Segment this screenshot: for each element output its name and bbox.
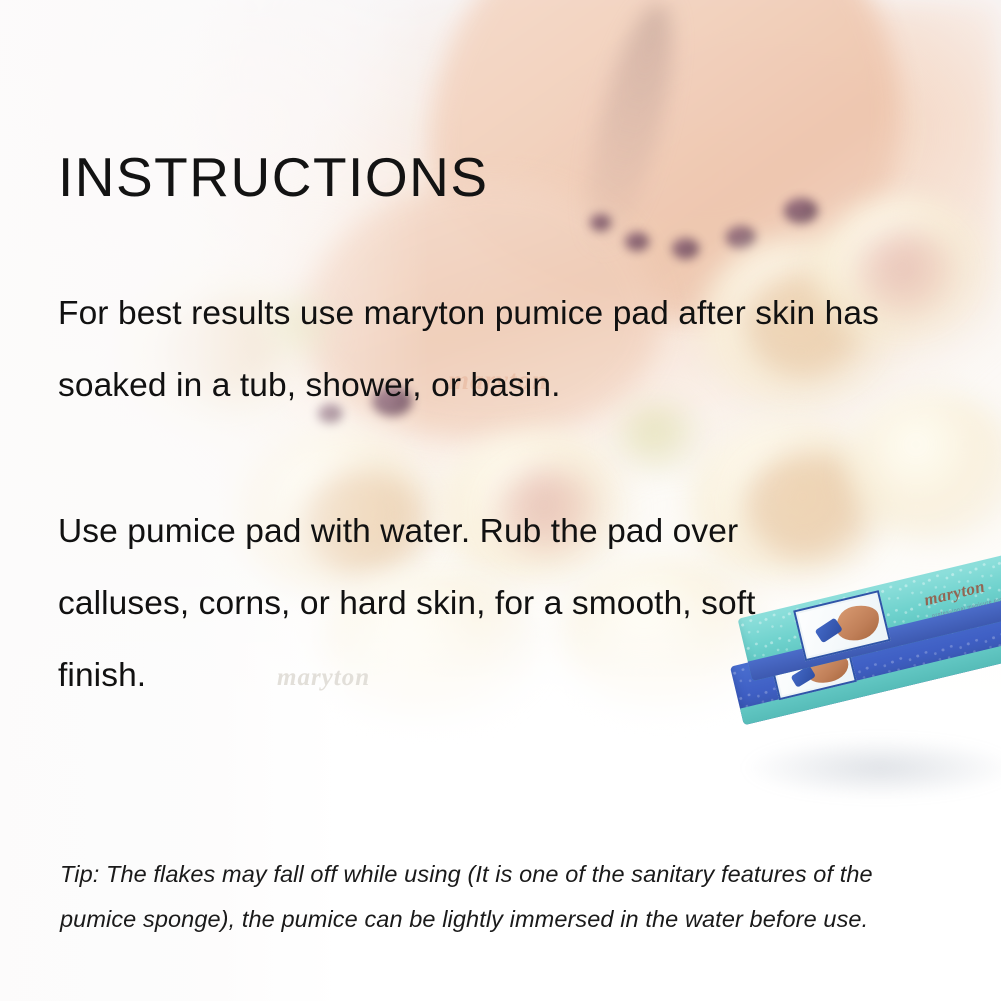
toenail-icon bbox=[784, 198, 818, 224]
instruction-paragraph-2: Use pumice pad with water. Rub the pad o… bbox=[58, 496, 838, 712]
tip-text: Tip: The flakes may fall off while using… bbox=[60, 852, 950, 942]
toenail-icon bbox=[590, 214, 611, 231]
instruction-paragraph-1: For best results use maryton pumice pad … bbox=[58, 278, 988, 422]
page-title: INSTRUCTIONS bbox=[58, 150, 489, 205]
toenail-icon bbox=[625, 232, 649, 251]
product-instruction-image: maryton maryton INSTRUCTIONS For best re… bbox=[0, 0, 1001, 1001]
toenail-icon bbox=[672, 238, 699, 259]
